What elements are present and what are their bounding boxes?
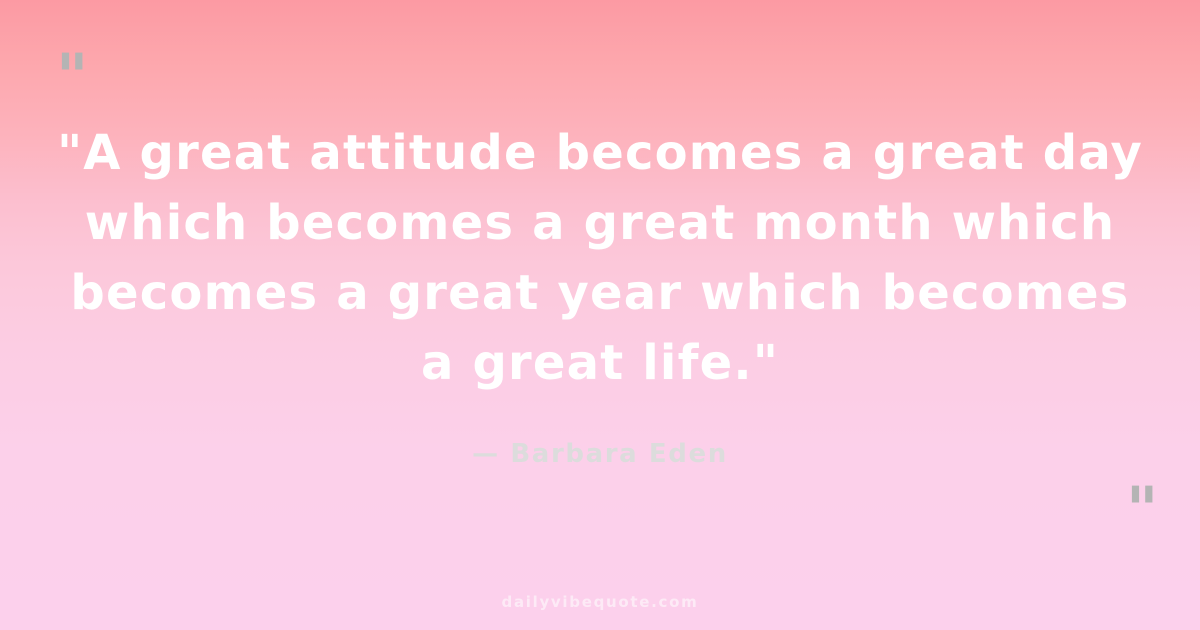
quote-attribution: — Barbara Eden <box>0 436 1200 472</box>
open-quote-icon: " <box>56 46 89 108</box>
quote-card: " "A great attitude becomes a great day … <box>0 0 1200 630</box>
site-watermark: dailyvibequote.com <box>0 592 1200 612</box>
close-quote-icon: " <box>1126 479 1159 541</box>
quote-text: "A great attitude becomes a great day wh… <box>50 118 1150 398</box>
